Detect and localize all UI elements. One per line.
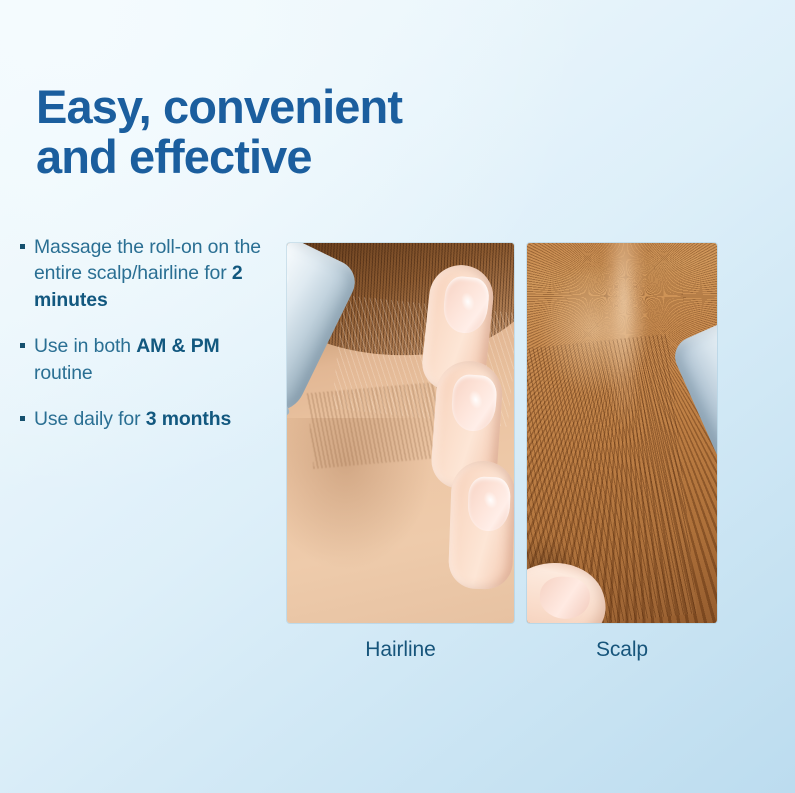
list-item-text-pre: Use daily for (34, 408, 146, 430)
photo-hairline: vise (287, 243, 514, 623)
fingernail (538, 575, 591, 620)
page-title-line-1: Easy, convenient (36, 82, 556, 132)
list-item: Massage the roll-on on the entire scalp/… (20, 234, 282, 313)
list-item: Use daily for 3 months (20, 406, 282, 432)
instructions-list: Massage the roll-on on the entire scalp/… (20, 234, 282, 432)
bullet-marker-icon (20, 416, 25, 421)
nail-highlight (481, 489, 499, 511)
list-item-text-strong: 3 months (146, 408, 231, 430)
list-item-text-strong: AM & PM (136, 335, 219, 357)
photo-hairline-image: vise (287, 243, 514, 623)
hair-highlight (538, 266, 652, 395)
bullet-marker-icon (20, 343, 25, 348)
list-item: Use in both AM & PM routine (20, 333, 282, 386)
list-item-text-pre: Use in both (34, 335, 136, 357)
list-item-text-post: routine (34, 362, 93, 384)
nail-highlight (466, 388, 484, 410)
page-title-line-2: and effective (36, 132, 556, 182)
caption-scalp: Scalp (527, 638, 717, 662)
hand (392, 265, 514, 595)
caption-hairline: Hairline (287, 638, 514, 662)
page-title: Easy, convenient and effective (36, 82, 556, 182)
infographic-page: Easy, convenient and effective Massage t… (0, 0, 795, 793)
photo-scalp (527, 243, 717, 623)
bullet-marker-icon (20, 244, 25, 249)
list-item-text-pre: Massage the roll-on on the entire scalp/… (34, 236, 261, 284)
nail-highlight (459, 290, 477, 312)
photo-scalp-image (527, 243, 717, 623)
